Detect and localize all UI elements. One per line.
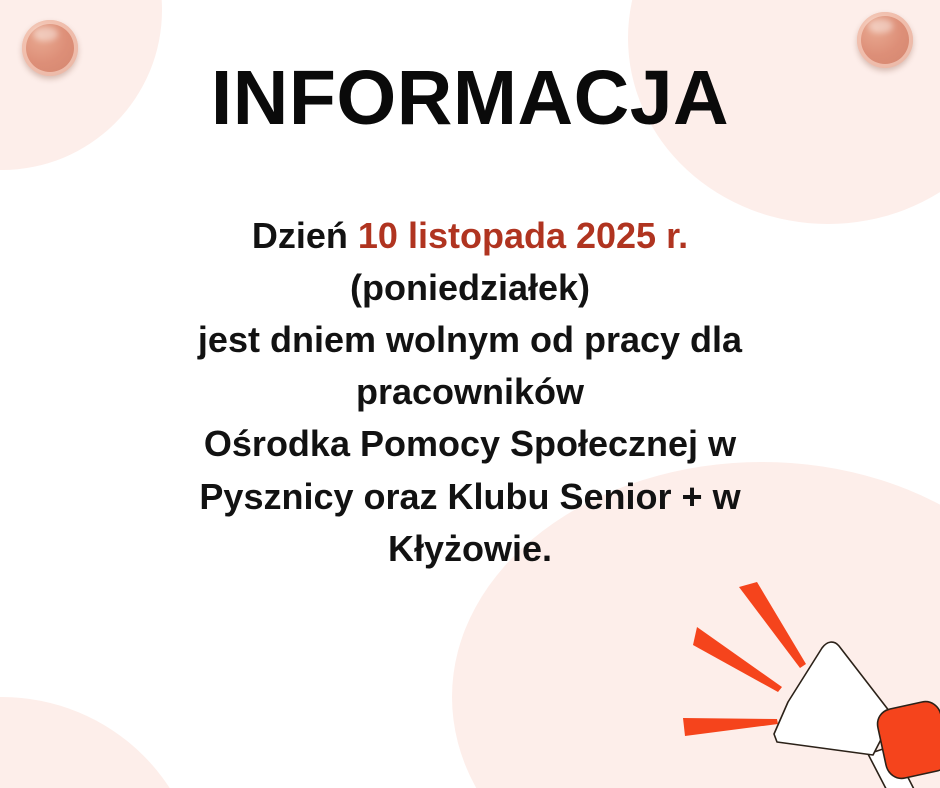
poster-canvas: INFORMACJA Dzień 10 listopada 2025 r. (p…: [0, 0, 940, 788]
megaphone-sound-ray-lower: [683, 718, 778, 736]
body-line-7: Kłyżowie.: [0, 523, 940, 575]
poster-body-text: Dzień 10 listopada 2025 r. (poniedziałek…: [0, 140, 940, 575]
body-line-4: pracowników: [0, 366, 940, 418]
megaphone-cone: [774, 642, 893, 755]
body-line-1-prefix: Dzień: [252, 215, 358, 256]
body-line-6: Pysznicy oraz Klubu Senior + w: [0, 471, 940, 523]
megaphone-sound-ray-middle: [693, 627, 782, 692]
megaphone-icon: [650, 556, 940, 788]
megaphone-handle: [868, 746, 920, 788]
megaphone-sound-ray-upper: [739, 582, 806, 668]
body-line-1: Dzień 10 listopada 2025 r.: [0, 210, 940, 262]
body-line-2: (poniedziałek): [0, 262, 940, 314]
megaphone-body: [878, 702, 940, 779]
poster-content: INFORMACJA Dzień 10 listopada 2025 r. (p…: [0, 0, 940, 575]
body-line-3: jest dniem wolnym od pracy dla: [0, 314, 940, 366]
pink-blob-bottom-left-shape: [0, 697, 202, 788]
accent-date-text: 10 listopada 2025 r.: [358, 215, 688, 256]
page-title: INFORMACJA: [0, 0, 940, 140]
body-line-5: Ośrodka Pomocy Społecznej w: [0, 418, 940, 470]
